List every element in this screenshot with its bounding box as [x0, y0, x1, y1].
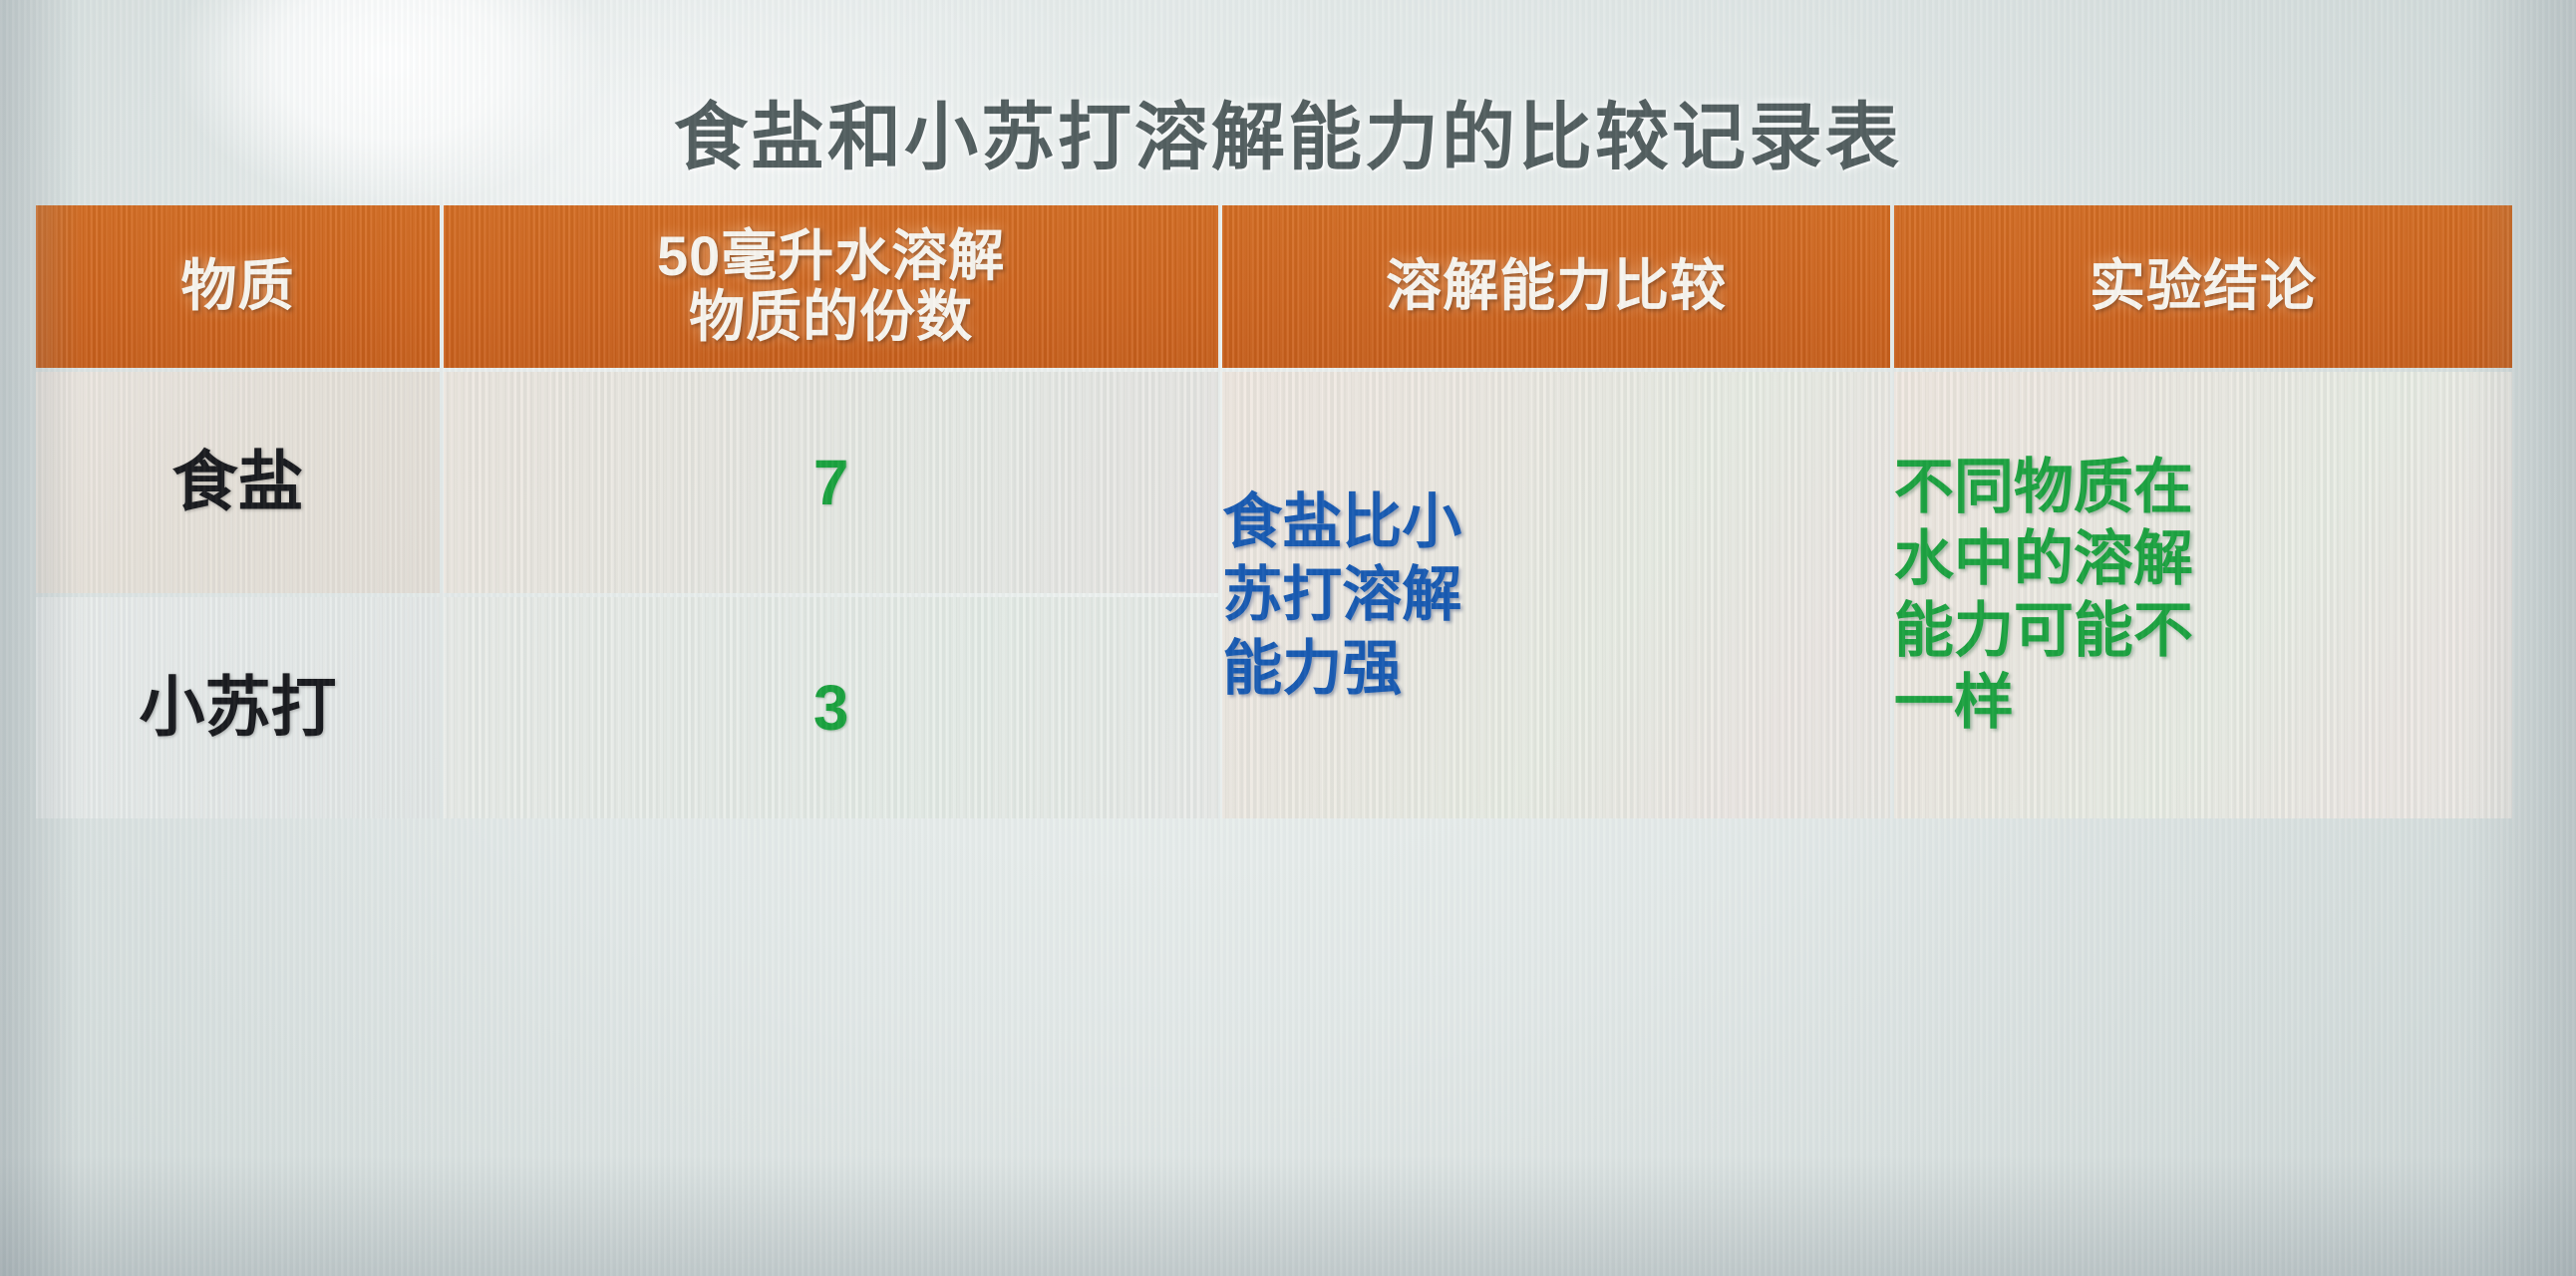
column-header-substance: 物质 — [36, 205, 440, 368]
column-header-parts-line1: 50毫升水溶解 — [657, 224, 1005, 287]
projection-screen: 食盐和小苏打溶解能力的比较记录表 物质 50毫升水溶解 物质的份数 溶解能力比较… — [0, 0, 2576, 1276]
column-header-conclusion: 实验结论 — [1894, 205, 2512, 368]
cell-experiment-conclusion: 不同物质在 水中的溶解 能力可能不 一样 — [1894, 372, 2512, 818]
column-header-conclusion-line1: 实验结论 — [2090, 254, 2317, 317]
cell-parts-salt: 7 — [444, 372, 1218, 593]
table-body: 食盐 7 食盐比小 苏打溶解 能力强 不同物质在 水中的溶解 能力可能不 一样 … — [36, 372, 2512, 818]
column-header-parts-line2: 物质的份数 — [444, 287, 1218, 347]
column-header-parts: 50毫升水溶解 物质的份数 — [444, 205, 1218, 368]
cell-parts-baking-soda: 3 — [444, 597, 1218, 818]
column-header-substance-line1: 物质 — [181, 254, 295, 317]
column-header-comparison: 溶解能力比较 — [1222, 205, 1890, 368]
column-header-comparison-line1: 溶解能力比较 — [1386, 254, 1727, 317]
cell-substance-baking-soda: 小苏打 — [36, 597, 440, 818]
page-title: 食盐和小苏打溶解能力的比较记录表 — [0, 78, 2576, 184]
comparison-record-table: 物质 50毫升水溶解 物质的份数 溶解能力比较 实验结论 食盐 7 食盐比小 苏… — [32, 201, 2516, 822]
header-row: 物质 50毫升水溶解 物质的份数 溶解能力比较 实验结论 — [36, 205, 2512, 368]
bottom-vignette — [0, 1156, 2576, 1276]
table-row: 食盐 7 食盐比小 苏打溶解 能力强 不同物质在 水中的溶解 能力可能不 一样 — [36, 372, 2512, 593]
table-header: 物质 50毫升水溶解 物质的份数 溶解能力比较 实验结论 — [36, 205, 2512, 368]
cell-substance-salt: 食盐 — [36, 372, 440, 593]
cell-comparison-result: 食盐比小 苏打溶解 能力强 — [1222, 372, 1890, 818]
